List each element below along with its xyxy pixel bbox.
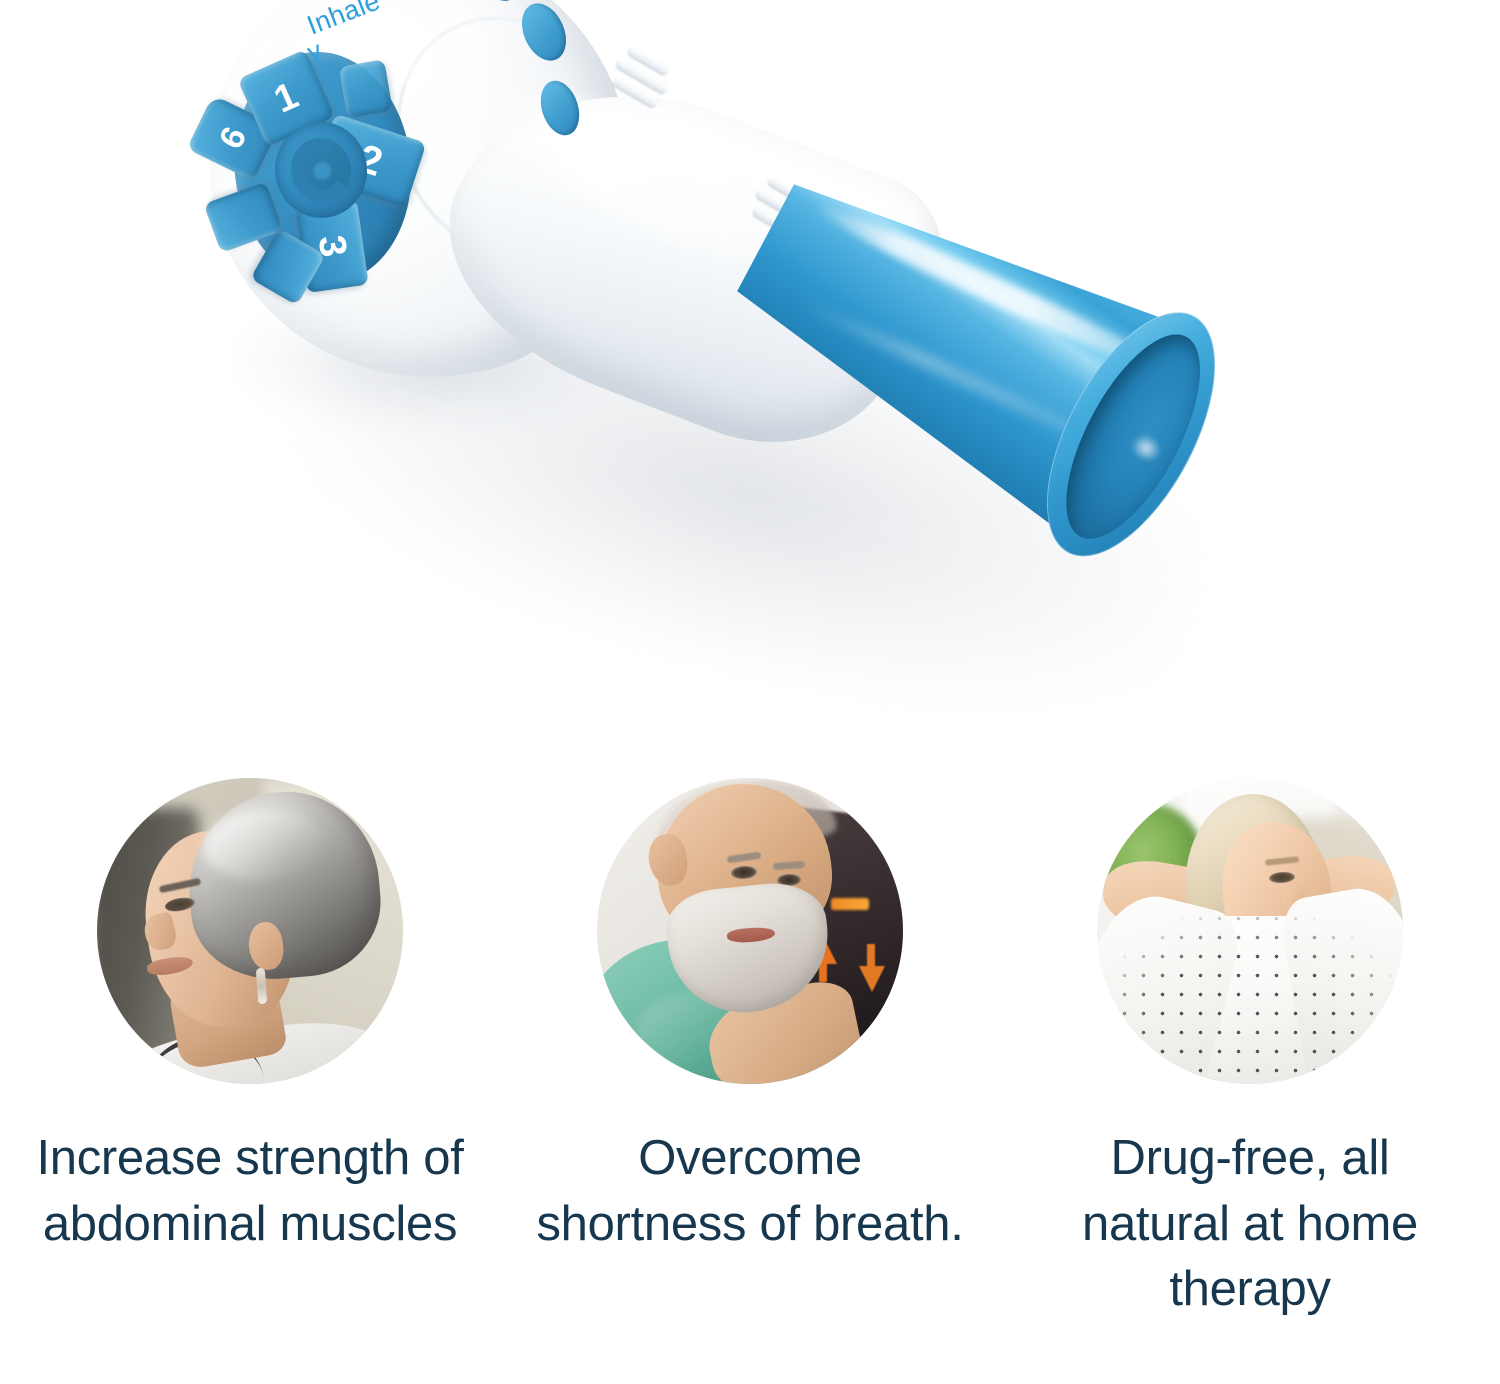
console-arrow-down-icon bbox=[859, 966, 885, 992]
dial-level-tab-hidden[interactable] bbox=[339, 59, 393, 118]
benefit-item: Overcome shortness of breath. bbox=[500, 748, 1000, 1384]
benefit-photo-drug-free-therapy bbox=[1097, 778, 1403, 1084]
resistance-dial[interactable]: 6 1 2 3 bbox=[192, 29, 448, 312]
benefit-item: Increase strength of abdominal muscles bbox=[0, 748, 500, 1384]
benefits-row: Increase strength of abdominal muscles bbox=[0, 748, 1500, 1384]
benefit-caption: Overcome shortness of breath. bbox=[530, 1126, 970, 1257]
breathing-trainer-device: 6 1 2 3 Inhale v bbox=[150, 0, 1350, 610]
product-hero: 6 1 2 3 Inhale v bbox=[0, 0, 1500, 745]
console-arrow-down-stem bbox=[867, 944, 875, 968]
benefit-caption: Increase strength of abdominal muscles bbox=[30, 1126, 470, 1257]
benefit-photo-overcome-shortness-of-breath bbox=[597, 778, 903, 1084]
console-display-right bbox=[831, 898, 869, 910]
benefit-item: Drug-free, all natural at home therapy bbox=[1000, 748, 1500, 1384]
subject-top-polka-dots bbox=[1097, 890, 1403, 1084]
benefit-photo-increase-strength bbox=[97, 778, 403, 1084]
benefit-caption: Drug-free, all natural at home therapy bbox=[1030, 1126, 1470, 1323]
